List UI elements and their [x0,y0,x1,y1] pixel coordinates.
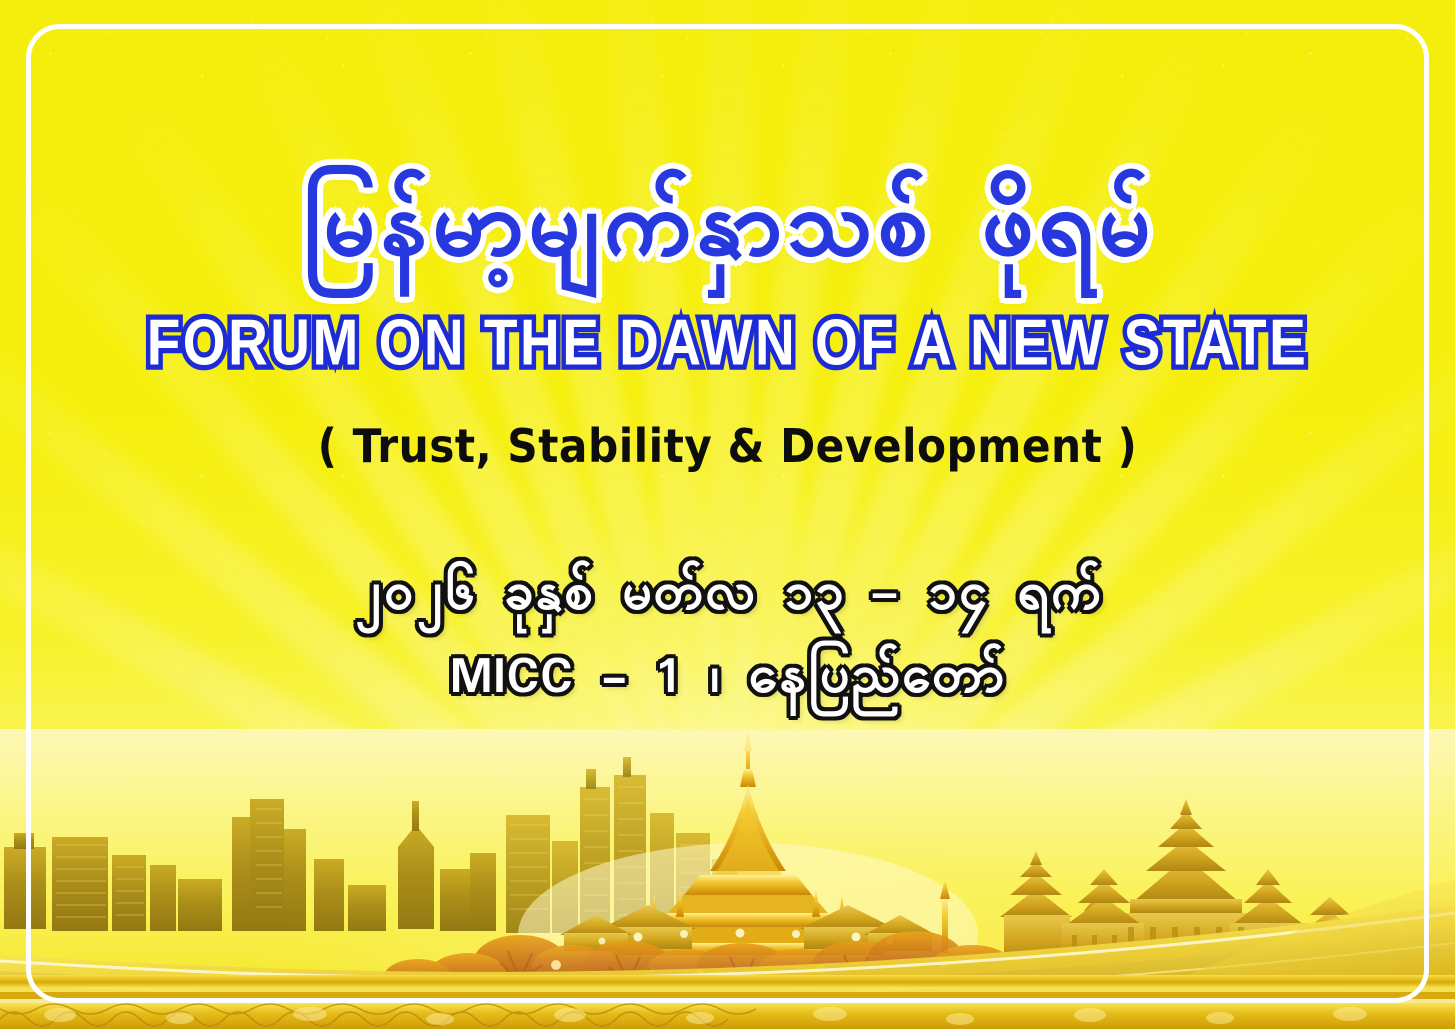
tagline: ( Trust, Stability & Development ) [318,423,1138,469]
event-venue: MICC - 1 ၊ နေပြည်တော် [450,644,1006,717]
burmese-title: မြန်မာ့မျက်နှာသစ် ဖိုရမ် [302,176,1154,288]
gold-band-upper [0,975,1455,987]
scenery-band [0,729,1455,1029]
scenery-illustration [0,729,1455,1029]
event-date: ၂၀၂၆ ခုနှစ် မတ်လ ၁၃ – ၁၄ ရက် [353,561,1102,634]
english-title: FORUM ON THE DAWN OF A NEW STATE [147,310,1309,375]
event-banner: မြန်မာ့မျက်နှာသစ် ဖိုရမ် FORUM ON THE DA… [0,0,1455,1029]
ornamental-border [0,1003,1455,1029]
